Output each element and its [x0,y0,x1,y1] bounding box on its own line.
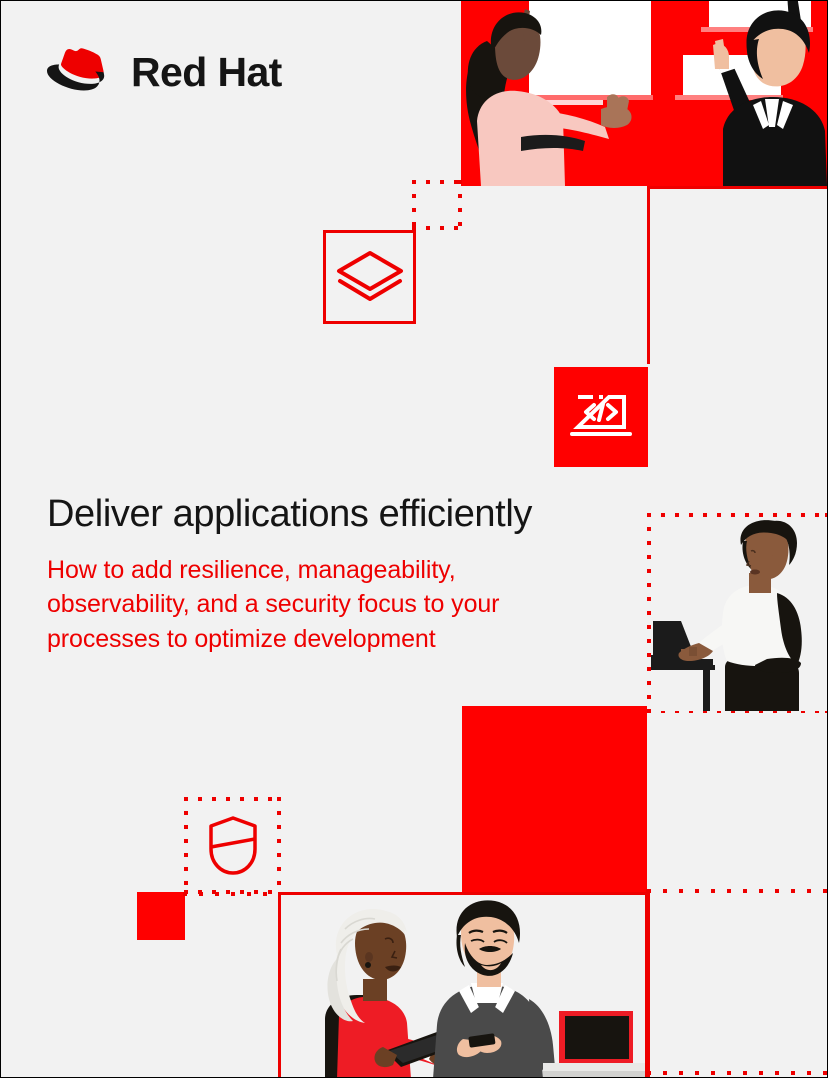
headline-block: Deliver applications efficiently How to … [47,493,627,656]
woman-at-standing-desk-illustration [651,517,828,711]
page-subtitle: How to add resilience, manageability, ob… [47,553,592,657]
vertical-rule-upper-right [647,186,650,364]
whiteboard-collaboration-illustration [461,1,828,186]
red-hat-logo: Red Hat [47,39,277,105]
decorative-dotted-square-top [412,180,462,230]
pair-collaboration-illustration [281,895,645,1078]
decorative-red-square-small [137,892,185,940]
document-cover-page: Deliver applications efficiently How to … [0,0,828,1078]
shield-icon-wrap [184,797,281,894]
dotted-rule-bottom-right-top [647,889,828,893]
decorative-red-square-large [462,706,647,895]
dotted-rule-bottom-left [183,892,283,896]
vertical-rule-bottom-right [646,889,650,1078]
red-hat-wordmark: Red Hat [131,52,282,93]
standing-desk-svg [651,517,828,711]
page-title: Deliver applications efficiently [47,493,627,537]
whiteboard-illustration-svg [461,1,828,186]
shield-icon [207,815,259,877]
dotted-rule-bottom-right-bottom [647,1071,828,1075]
laptop-code-icon-tile [554,367,648,467]
red-hat-fedora-logo-icon [47,44,121,100]
pair-collaboration-svg [281,895,645,1078]
laptop-code-icon [568,391,634,443]
horizontal-rule-upper-right [647,186,828,189]
layers-icon [335,249,405,305]
layers-icon-frame [323,230,416,324]
